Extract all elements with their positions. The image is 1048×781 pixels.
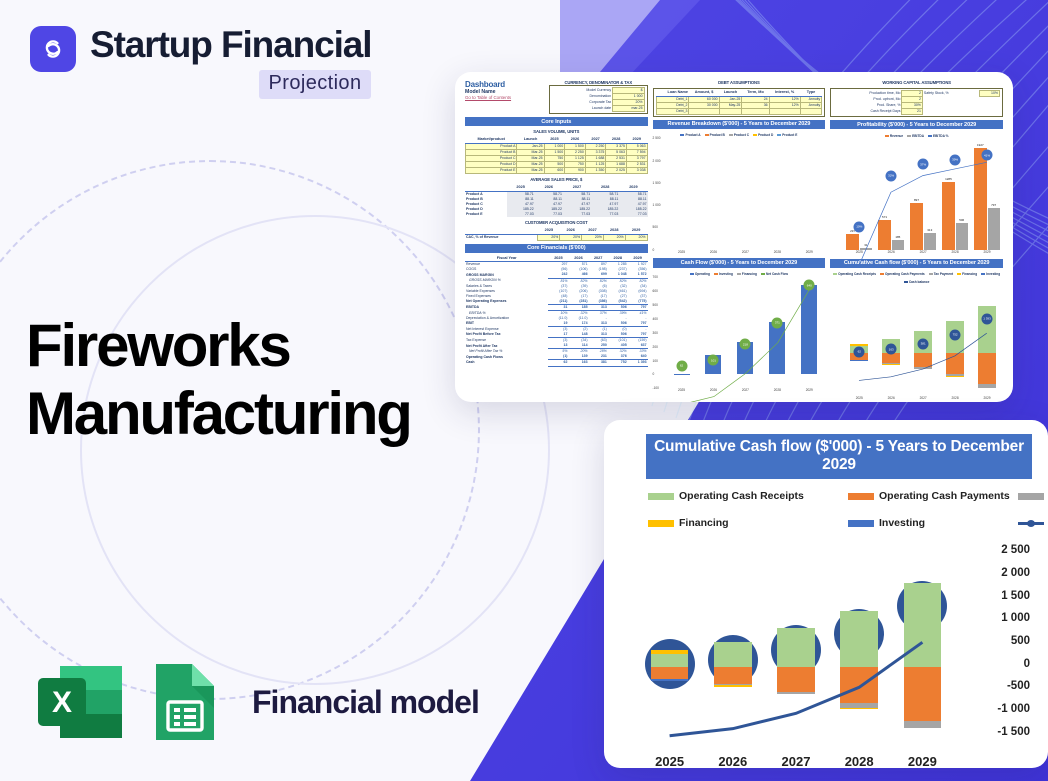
x-tick: 2026 <box>706 754 760 768</box>
table-row: Debt_3 <box>656 108 822 114</box>
cumulative-cashflow-mini-chart[interactable]: Operating Cash Receipts Operating Cash P… <box>830 271 1003 394</box>
legend-item: Operating Cash Payments <box>880 272 925 276</box>
data-label: 62 <box>676 360 687 371</box>
y-tick: 2 500 <box>1001 544 1030 556</box>
y-tick: 500 <box>1011 635 1030 647</box>
currency-table: Model Currency$ Denomination1 000 Corpor… <box>552 87 645 112</box>
legend-item: Product E <box>777 133 797 137</box>
dashboard-left-column: Dashboard Model Name Go to Table of Cont… <box>465 80 648 394</box>
cell: 77.03 <box>563 212 591 217</box>
row-label: Cash Receipt Days <box>833 109 902 115</box>
cac-table: 2025 2026 2027 2028 2029 CAC, % of Reven… <box>465 228 648 241</box>
legend-item-investing: Investing <box>848 511 1018 535</box>
table-row: Launch datemar-25 <box>552 106 644 112</box>
y-tick: 700 <box>653 275 658 279</box>
legend-item-operating-cash-receipts: Operating Cash Receipts <box>648 484 848 508</box>
y-tick: 500 <box>653 303 658 307</box>
y-tick: 1 000 <box>1001 612 1030 624</box>
logo-glyph <box>39 35 67 63</box>
dashboard-preview-card[interactable]: Dashboard Model Name Go to Table of Cont… <box>455 72 1013 402</box>
cell[interactable]: 600 <box>544 168 565 174</box>
y-tick: -100 <box>653 386 659 390</box>
cumulative-plot-area: 621633817521 393 <box>843 285 1003 396</box>
y-tick: 1 000 <box>653 203 661 207</box>
cell: 381 <box>589 360 608 366</box>
average-price-table: 2025 2026 2027 2028 2029 Product A58.715… <box>465 185 648 217</box>
core-financials-band: Core Financials ($'000) <box>465 244 648 253</box>
cell: 752 <box>608 360 628 366</box>
table-row: CAC, % of Revenue20%20%20%20%20% <box>465 234 647 240</box>
table-header-row: Market/product Launch 2025 2026 2027 202… <box>466 137 648 143</box>
dashboard-middle-column: DEBT ASSUMPTIONS Loan Name Amount, $ Lau… <box>653 80 826 394</box>
legend-item: Product A <box>680 133 700 137</box>
launch-value[interactable]: Mar-25 <box>517 168 544 174</box>
y-tick: 500 <box>653 225 658 229</box>
row-value[interactable]: mar-25 <box>613 106 644 112</box>
cell: 77.03 <box>535 212 563 217</box>
cash-balance-bubble: 381 <box>918 338 929 349</box>
currency-assumptions-box[interactable]: Model Currency$ Denomination1 000 Corpor… <box>549 85 648 114</box>
sales-volume-caption: SALES VOLUME, UNITS <box>465 129 648 134</box>
chart-x-axis: 2025 2026 2027 2028 2029 <box>638 754 954 768</box>
x-tick: 2029 <box>806 250 813 254</box>
cell[interactable]: 20% <box>625 234 647 240</box>
debt-assumptions-box[interactable]: Loan Name Amount, $ Launch Term, Mo Inte… <box>653 88 826 117</box>
legend-item: EBITDA <box>907 134 924 138</box>
legend-item: Investing <box>981 272 1000 276</box>
debt-table: Loan Name Amount, $ Launch Term, Mo Inte… <box>656 90 823 115</box>
x-tick: 2028 <box>774 250 781 254</box>
y-tick: 200 <box>653 345 658 349</box>
microsoft-excel-icon: X <box>34 660 126 744</box>
data-label: 41% <box>982 150 993 161</box>
row-label: Cash <box>465 360 548 366</box>
legend-item: Product B <box>705 133 725 137</box>
table-row: Debt_230 000May-253612%Annuity <box>656 102 822 108</box>
legend-item: Net Cash Flow <box>761 272 788 276</box>
y-tick: 0 <box>1024 658 1030 670</box>
table-row: Cash Receipt Days21 <box>833 109 999 115</box>
cell[interactable]: 1 350 <box>585 168 606 174</box>
legend-item: Product C <box>729 133 749 137</box>
x-tick: 2026 <box>710 250 717 254</box>
table-row: Product E77.0377.0377.0377.0377.03 <box>465 212 648 217</box>
y-tick: 300 <box>653 331 658 335</box>
dashboard-right-column: WORKING CAPITAL ASSUMPTIONS Production t… <box>830 80 1003 394</box>
y-tick: 2 000 <box>1001 567 1030 579</box>
table-of-contents-link[interactable]: Go to Table of Contents <box>465 95 543 100</box>
y-tick: 1 500 <box>653 181 661 185</box>
working-capital-header: WORKING CAPITAL ASSUMPTIONS <box>830 80 1003 85</box>
page-title-line2: Manufacturing <box>26 380 411 448</box>
legend-item: Operating <box>690 272 710 276</box>
dashboard-title: Dashboard <box>465 80 543 89</box>
revenue-x-axis: 2025 2026 2027 2028 2029 <box>666 250 826 254</box>
cell[interactable]: Debt_3 <box>656 108 689 114</box>
page-title-line1: Fireworks <box>26 312 411 380</box>
profitability-chart-band: Profitability ($'000) - 5 Years to Decem… <box>830 120 1003 129</box>
chart-title: Cumulative Cash flow ($'000) - 5 Years t… <box>646 434 1032 479</box>
y-tick: 400 <box>653 317 658 321</box>
working-capital-table: Production time, Mo2Safety Stock, %10% P… <box>833 90 1000 115</box>
sales-volume-table: Market/product Launch 2025 2026 2027 202… <box>465 137 648 174</box>
legend-item-cash-balance: Cash balance <box>1018 511 1048 535</box>
y-tick: 0 <box>653 248 655 252</box>
brand-title: Startup Financial <box>90 26 371 65</box>
cell: 77.03 <box>619 212 647 217</box>
brand-subtitle: Projection <box>259 70 372 99</box>
revenue-chart-band: Revenue Breakdown ($'000) - 5 Years to D… <box>653 120 826 129</box>
y-tick: 0 <box>653 372 655 376</box>
cell[interactable]: 21 <box>902 109 922 115</box>
y-tick: -1 000 <box>997 703 1030 715</box>
legend-item: Financing <box>957 272 977 276</box>
legend-item: Tax Payment <box>929 272 953 276</box>
chart-legend: Operating Cash Receipts Operating Cash P… <box>648 484 1038 535</box>
data-label: 371 <box>772 317 783 328</box>
y-tick: 2 000 <box>653 159 661 163</box>
profitability-chart[interactable]: Revenue EBITDA EBITDA % 2973157118589731… <box>830 132 1003 255</box>
core-financials-table: Fiscal Year 2025 2026 2027 2028 2029 Rev… <box>465 256 648 367</box>
y-tick: 100 <box>653 359 658 363</box>
cashflow-plot-area: 7006005004003002001000-10062101218371640 <box>666 277 826 388</box>
data-label: 39% <box>950 154 961 165</box>
y-tick: 2 500 <box>653 136 661 140</box>
data-label: 101 <box>708 355 719 366</box>
data-label: 37% <box>918 159 929 170</box>
legend-item: Revenue <box>885 134 903 138</box>
cumulative-chart-legend: Operating Cash Receipts Operating Cash P… <box>830 271 1003 285</box>
cash-balance-line <box>638 547 954 768</box>
cell: 77.03 <box>591 212 619 217</box>
legend-item: Investing <box>714 272 733 276</box>
chart-plot-area: 621633817521 393 <box>638 547 954 743</box>
x-tick: 2027 <box>742 250 749 254</box>
cell: 62 <box>548 360 568 366</box>
cell[interactable]: 900 <box>565 168 586 174</box>
row-label: CAC, % of Revenue <box>465 234 538 240</box>
core-inputs-band: Core Inputs <box>465 117 648 126</box>
data-label: 218 <box>740 339 751 350</box>
profitability-plot-area: 297315711858973131285506192779710%32%37%… <box>843 139 1003 250</box>
brand-header: Startup Financial Projection <box>30 26 371 99</box>
data-label: 32% <box>886 170 897 181</box>
x-tick: 2027 <box>769 754 823 768</box>
x-tick: 2025 <box>643 754 697 768</box>
cash-balance-bubble: 62 <box>854 346 865 357</box>
cell[interactable]: 20% <box>582 234 604 240</box>
infinity-e-logo-icon <box>30 26 76 72</box>
legend-item: Cash balance <box>904 280 930 284</box>
footer-label: Financial model <box>252 684 479 721</box>
cell[interactable]: 20% <box>560 234 582 240</box>
format-badges: X Financial model <box>34 660 479 744</box>
page-title: Fireworks Manufacturing <box>26 312 411 448</box>
google-sheets-icon <box>148 660 222 744</box>
working-capital-box[interactable]: Production time, Mo2Safety Stock, %10% P… <box>830 88 1003 117</box>
legend-item: Operating Cash Receipts <box>833 272 876 276</box>
cell: 1 393 <box>628 360 648 366</box>
data-label: 10% <box>854 221 865 232</box>
y-tick: -500 <box>1007 680 1030 692</box>
legend-item-operating-cash-payments: Operating Cash Payments <box>848 484 1018 508</box>
cash-balance-bubble: 1 393 <box>982 313 993 324</box>
cumulative-cashflow-card[interactable]: Cumulative Cash flow ($'000) - 5 Years t… <box>604 420 1048 768</box>
table-row: Cash621633817521 393 <box>465 360 648 366</box>
cell: 163 <box>568 360 588 366</box>
svg-text:X: X <box>52 686 72 719</box>
cell[interactable]: 20% <box>603 234 625 240</box>
chart-body: 621633817521 393 2 5002 0001 5001 000500… <box>618 547 1038 768</box>
revenue-bars <box>666 138 826 249</box>
y-tick: -1 500 <box>997 726 1030 738</box>
cell[interactable]: 20% <box>538 234 560 240</box>
x-tick: 2029 <box>895 754 949 768</box>
legend-item-tax-payment: Tax Payment <box>1018 484 1048 508</box>
cash-balance-bubble: 163 <box>886 344 897 355</box>
avg-price-caption: AVERAGE SALES PRICE, $ <box>465 177 648 182</box>
legend-item-financing: Financing <box>648 511 848 535</box>
cac-caption: CUSTOMER ACQUISITION COST <box>465 220 648 225</box>
row-label: Launch date <box>552 106 613 112</box>
x-tick: 2025 <box>678 250 685 254</box>
y-tick: 1 500 <box>1001 590 1030 602</box>
table-row: Product EMar-256009001 3502 0253 038 <box>466 168 648 174</box>
data-label: 640 <box>804 280 815 291</box>
product-name[interactable]: Product E <box>466 168 517 174</box>
product-name: Product E <box>465 212 507 217</box>
legend-item: Product D <box>753 133 773 137</box>
debt-box-header: DEBT ASSUMPTIONS <box>653 80 826 85</box>
revenue-breakdown-chart[interactable]: Product A Product B Product C Product D … <box>653 132 826 255</box>
cell[interactable]: 3 038 <box>626 168 647 174</box>
revenue-plot-area: 2 500 2 000 1 500 1 000 500 0 <box>666 138 826 249</box>
table-row: Debt_160 000Jan-252412%Annuity <box>656 96 822 102</box>
cashflow-chart-band: Cash Flow ($'000) - 5 Years to December … <box>653 258 826 267</box>
legend-item: Financing <box>737 272 757 276</box>
cash-flow-chart[interactable]: Operating Investing Financing Net Cash F… <box>653 271 826 394</box>
x-tick: 2028 <box>832 754 886 768</box>
dashboard-sheet: Dashboard Model Name Go to Table of Cont… <box>465 80 1003 394</box>
chart-y-axis: 2 5002 0001 5001 0005000-500-1 000-1 500 <box>956 539 1034 743</box>
legend-item: EBITDA % <box>928 134 948 138</box>
y-tick: 600 <box>653 289 658 293</box>
cell[interactable]: 2 025 <box>606 168 627 174</box>
cell: 77.03 <box>507 212 535 217</box>
cash-balance-bubble: 752 <box>950 329 961 340</box>
